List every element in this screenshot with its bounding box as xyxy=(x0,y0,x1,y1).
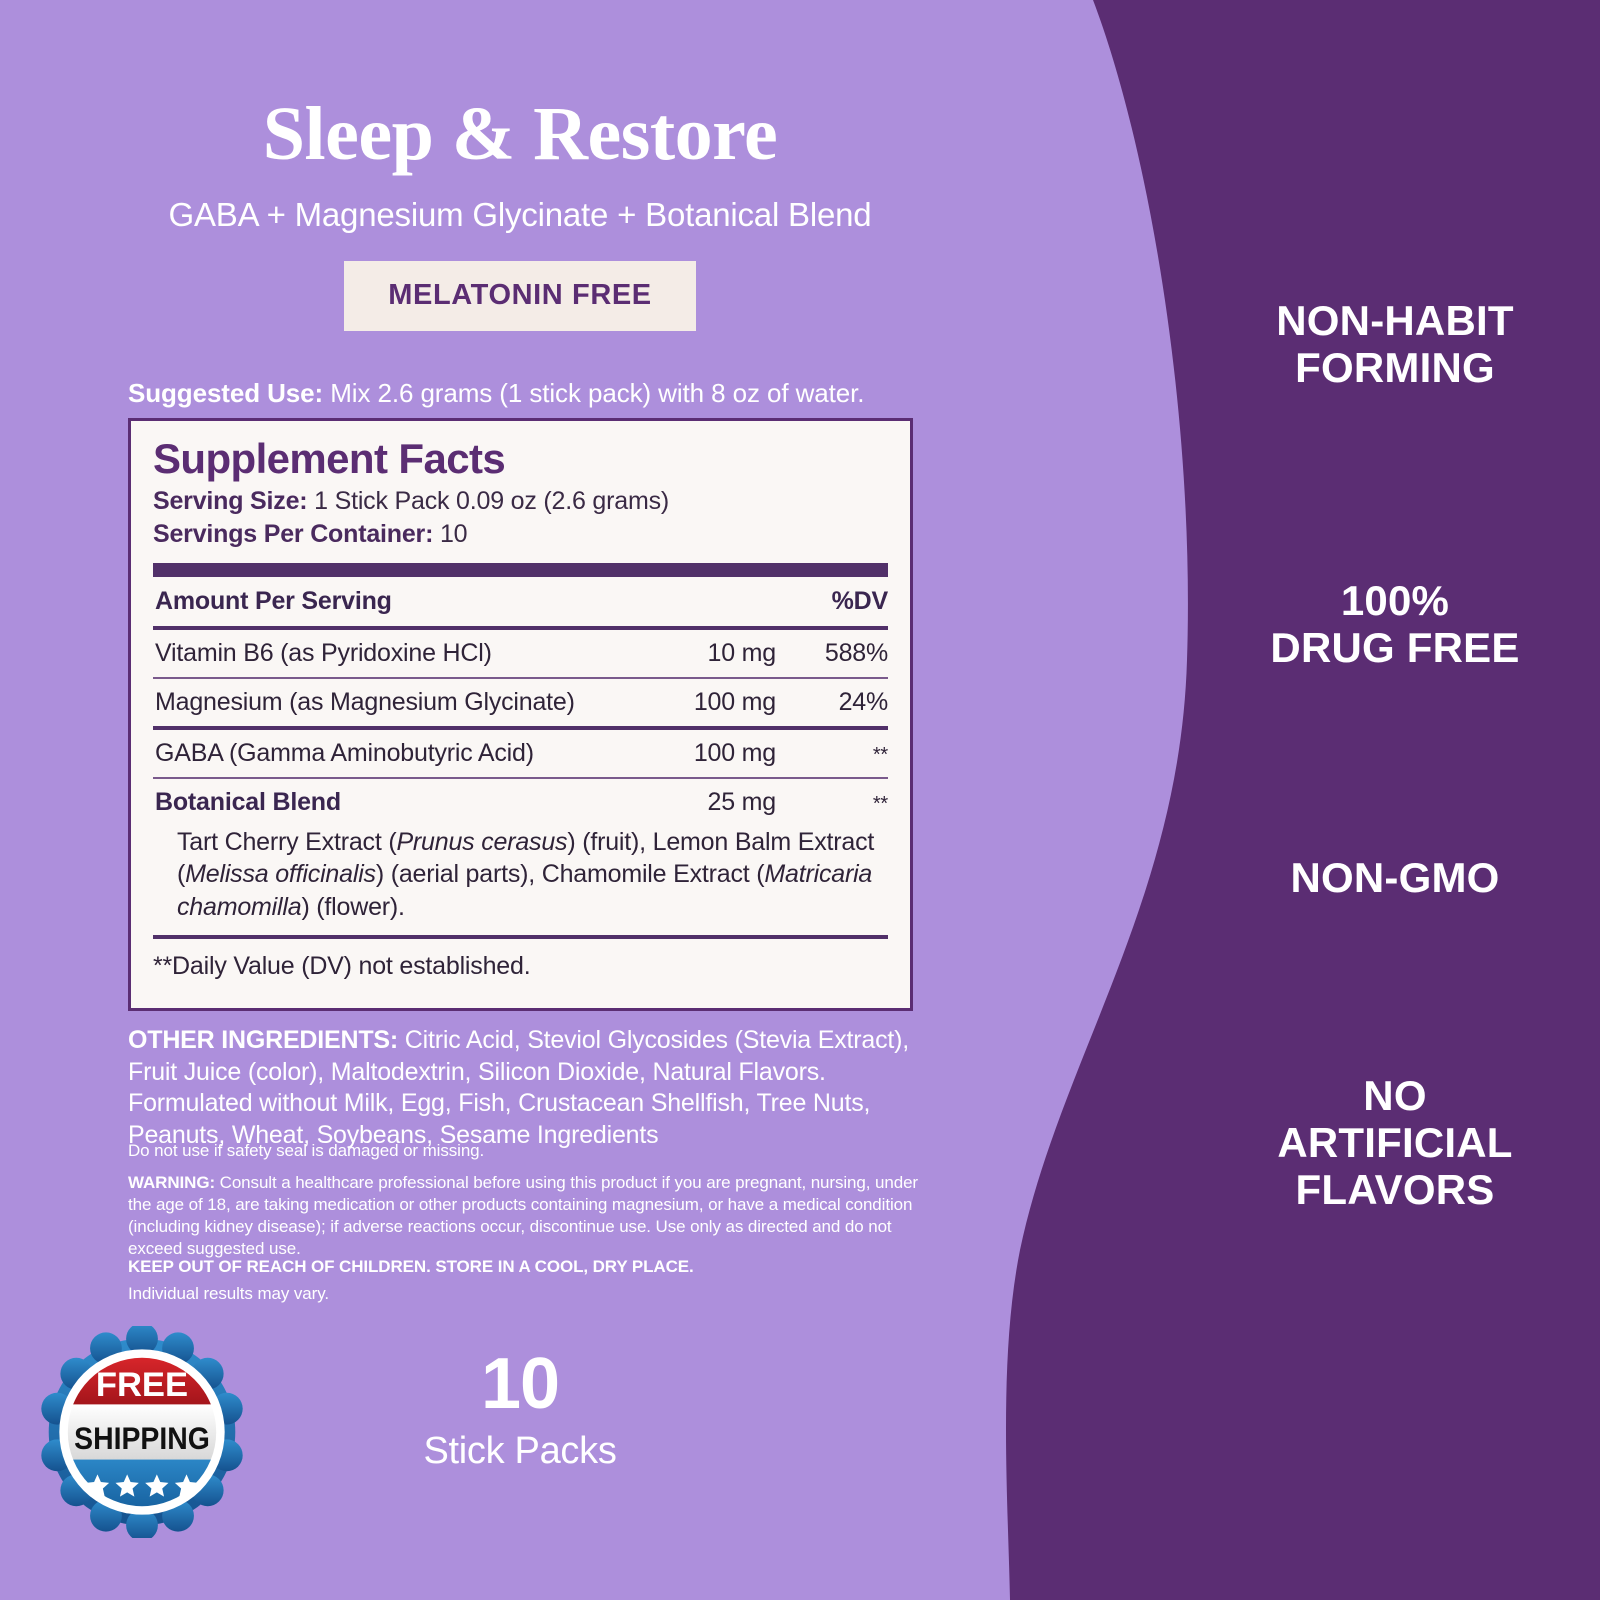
melatonin-free-badge: MELATONIN FREE xyxy=(344,261,696,331)
left-content-column: Sleep & Restore GABA + Magnesium Glycina… xyxy=(0,0,1010,1600)
warning-text: WARNING: Consult a healthcare profession… xyxy=(128,1172,918,1260)
individual-results-text: Individual results may vary. xyxy=(128,1284,918,1304)
supplement-facts-panel: Supplement Facts Serving Size: 1 Stick P… xyxy=(128,418,913,1011)
nutrient-amount: 100 mg xyxy=(626,739,776,768)
nutrient-dv: 24% xyxy=(776,688,888,717)
servings-per-container-line: Servings Per Container: 10 xyxy=(153,518,888,551)
claim-no-artificial-flavors: NOARTIFICIALFLAVORS xyxy=(1190,1072,1600,1213)
count-label: Stick Packs xyxy=(330,1430,710,1473)
table-row: GABA (Gamma Aminobutyric Acid) 100 mg ** xyxy=(153,730,888,777)
servings-per-container-value: 10 xyxy=(433,520,467,548)
nutrient-amount: 25 mg xyxy=(626,788,776,817)
nutrient-dv: ** xyxy=(776,744,888,767)
supplement-facts-title: Supplement Facts xyxy=(153,437,888,481)
badge-shipping-text: SHIPPING xyxy=(74,1420,210,1456)
product-subtitle: GABA + Magnesium Glycinate + Botanical B… xyxy=(0,196,1040,234)
supplement-table-header-row: Amount Per Serving %DV xyxy=(153,577,888,626)
claim-drug-free: 100%DRUG FREE xyxy=(1190,577,1600,671)
daily-value-footnote: **Daily Value (DV) not established. xyxy=(153,939,888,981)
safety-seal-text: Do not use if safety seal is damaged or … xyxy=(128,1141,918,1161)
free-shipping-badge-icon: FREE SHIPPING xyxy=(36,1326,248,1538)
servings-per-container-label: Servings Per Container: xyxy=(153,520,433,548)
divider-bar-thick-top xyxy=(153,563,888,577)
page-title: Sleep & Restore xyxy=(0,96,1040,172)
claim-non-habit-forming: NON-HABITFORMING xyxy=(1190,297,1600,391)
table-row: Vitamin B6 (as Pyridoxine HCl) 10 mg 588… xyxy=(153,630,888,677)
claims-column: NON-HABITFORMING 100%DRUG FREE NON-GMO N… xyxy=(1190,0,1600,1600)
other-ingredients-label: OTHER INGREDIENTS: xyxy=(128,1026,398,1054)
suggested-use-value: Mix 2.6 grams (1 stick pack) with 8 oz o… xyxy=(323,378,864,408)
melatonin-badge-wrapper: MELATONIN FREE xyxy=(0,261,1040,331)
count-number: 10 xyxy=(330,1348,710,1420)
product-infographic: Sleep & Restore GABA + Magnesium Glycina… xyxy=(0,0,1600,1600)
nutrient-amount: 10 mg xyxy=(626,639,776,668)
warning-label: WARNING: xyxy=(128,1173,215,1192)
nutrient-name: Botanical Blend xyxy=(155,788,626,817)
warning-body: Consult a healthcare professional before… xyxy=(128,1173,918,1258)
table-row: Botanical Blend 25 mg ** xyxy=(153,779,888,826)
table-row: Magnesium (as Magnesium Glycinate) 100 m… xyxy=(153,679,888,726)
nutrient-name: Magnesium (as Magnesium Glycinate) xyxy=(155,688,626,717)
amount-per-serving-header: Amount Per Serving xyxy=(155,587,626,616)
badge-free-text: FREE xyxy=(96,1366,188,1404)
serving-size-line: Serving Size: 1 Stick Pack 0.09 oz (2.6 … xyxy=(153,485,888,518)
other-ingredients: OTHER INGREDIENTS: Citric Acid, Steviol … xyxy=(128,1024,918,1088)
stick-pack-count: 10 Stick Packs xyxy=(330,1348,710,1473)
nutrient-dv: ** xyxy=(776,793,888,816)
nutrient-amount: 100 mg xyxy=(626,688,776,717)
nutrient-name: Vitamin B6 (as Pyridoxine HCl) xyxy=(155,639,626,668)
suggested-use-label: Suggested Use: xyxy=(128,378,323,408)
dv-header: %DV xyxy=(776,587,888,616)
keep-out-of-reach-text: KEEP OUT OF REACH OF CHILDREN. STORE IN … xyxy=(128,1257,918,1277)
serving-size-label: Serving Size: xyxy=(153,487,307,515)
botanical-blend-detail: Tart Cherry Extract (Prunus cerasus) (fr… xyxy=(153,826,888,936)
nutrient-dv: 588% xyxy=(776,639,888,668)
suggested-use-text: Suggested Use: Mix 2.6 grams (1 stick pa… xyxy=(128,378,948,409)
serving-size-value: 1 Stick Pack 0.09 oz (2.6 grams) xyxy=(307,487,669,515)
claim-non-gmo: NON-GMO xyxy=(1190,854,1600,901)
nutrient-name: GABA (Gamma Aminobutyric Acid) xyxy=(155,739,626,768)
